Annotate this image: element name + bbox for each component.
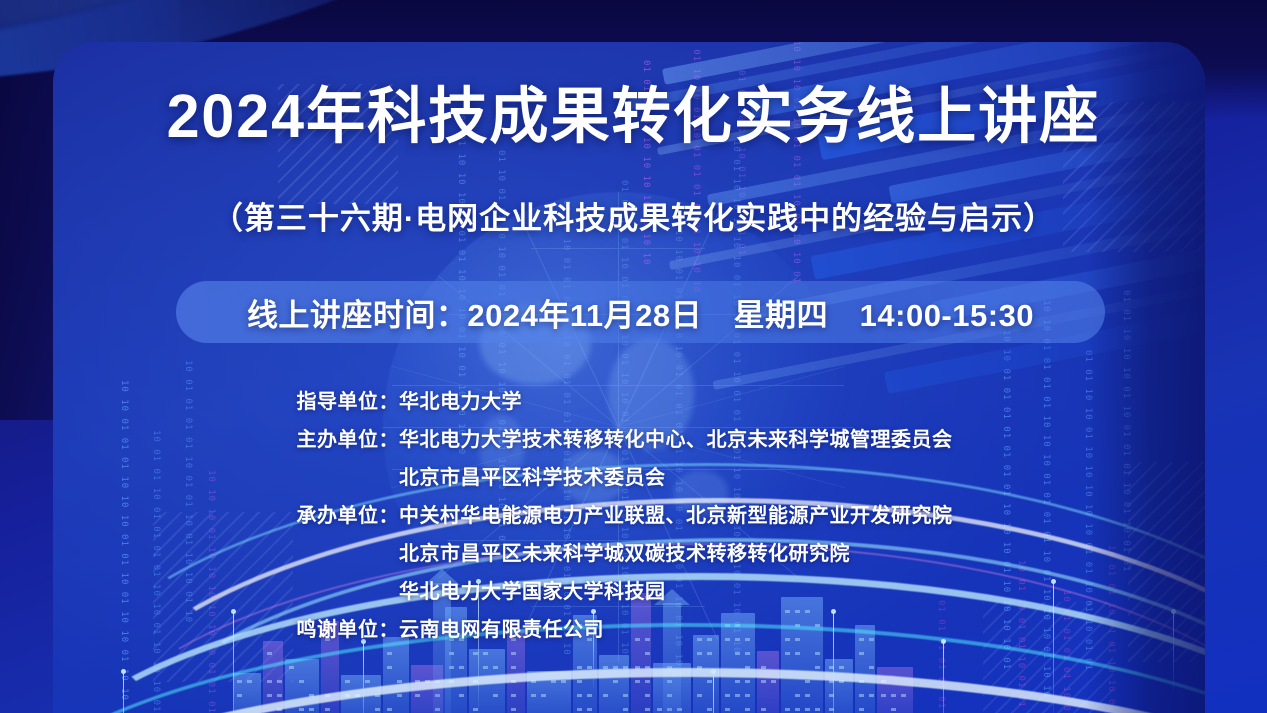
organizer-value: 中关村华电能源电力产业联盟、北京新型能源产业开发研究院 [399, 499, 953, 528]
organizer-row: 北京市昌平区科学技术委员会 [0, 461, 1267, 490]
organizer-label: 主办单位： [0, 423, 399, 452]
page-title: 2024年科技成果转化实务线上讲座 [19, 86, 1248, 147]
organizer-row: 承办单位：中关村华电能源电力产业联盟、北京新型能源产业开发研究院 [0, 499, 1267, 528]
organizer-value: 华北电力大学国家大学科技园 [399, 575, 666, 604]
organizer-row: 鸣谢单位：云南电网有限责任公司 [0, 613, 1267, 642]
organizer-row: 主办单位：华北电力大学技术转移转化中心、北京未来科学城管理委员会 [0, 423, 1267, 452]
organizer-value: 华北电力大学 [399, 385, 522, 414]
organizer-value: 北京市昌平区未来科学城双碳技术转移转化研究院 [399, 537, 850, 566]
organizer-value: 北京市昌平区科学技术委员会 [399, 461, 666, 490]
lecture-time-text: 线上讲座时间：2024年11月28日 星期四 14:00-15:30 [247, 290, 1034, 335]
lecture-time-banner: 线上讲座时间：2024年11月28日 星期四 14:00-15:30 [176, 281, 1105, 343]
organizer-label: 指导单位： [0, 385, 399, 414]
organizer-value: 华北电力大学技术转移转化中心、北京未来科学城管理委员会 [399, 423, 953, 452]
poster: 10 10 01 01 01 10 10 10 01 01 10 01 10 1… [0, 0, 1267, 713]
organizer-label: 承办单位： [0, 499, 399, 528]
poster-content: 2024年科技成果转化实务线上讲座 （第三十六期·电网企业科技成果转化实践中的经… [0, 0, 1267, 713]
organizer-list: 指导单位：华北电力大学主办单位：华北电力大学技术转移转化中心、北京未来科学城管理… [0, 385, 1267, 651]
organizer-row: 华北电力大学国家大学科技园 [0, 575, 1267, 604]
page-subtitle: （第三十六期·电网企业科技成果转化实践中的经验与启示） [0, 193, 1267, 238]
organizer-row: 指导单位：华北电力大学 [0, 385, 1267, 414]
organizer-value: 云南电网有限责任公司 [399, 613, 604, 642]
organizer-row: 北京市昌平区未来科学城双碳技术转移转化研究院 [0, 537, 1267, 566]
organizer-label: 鸣谢单位： [0, 613, 399, 642]
